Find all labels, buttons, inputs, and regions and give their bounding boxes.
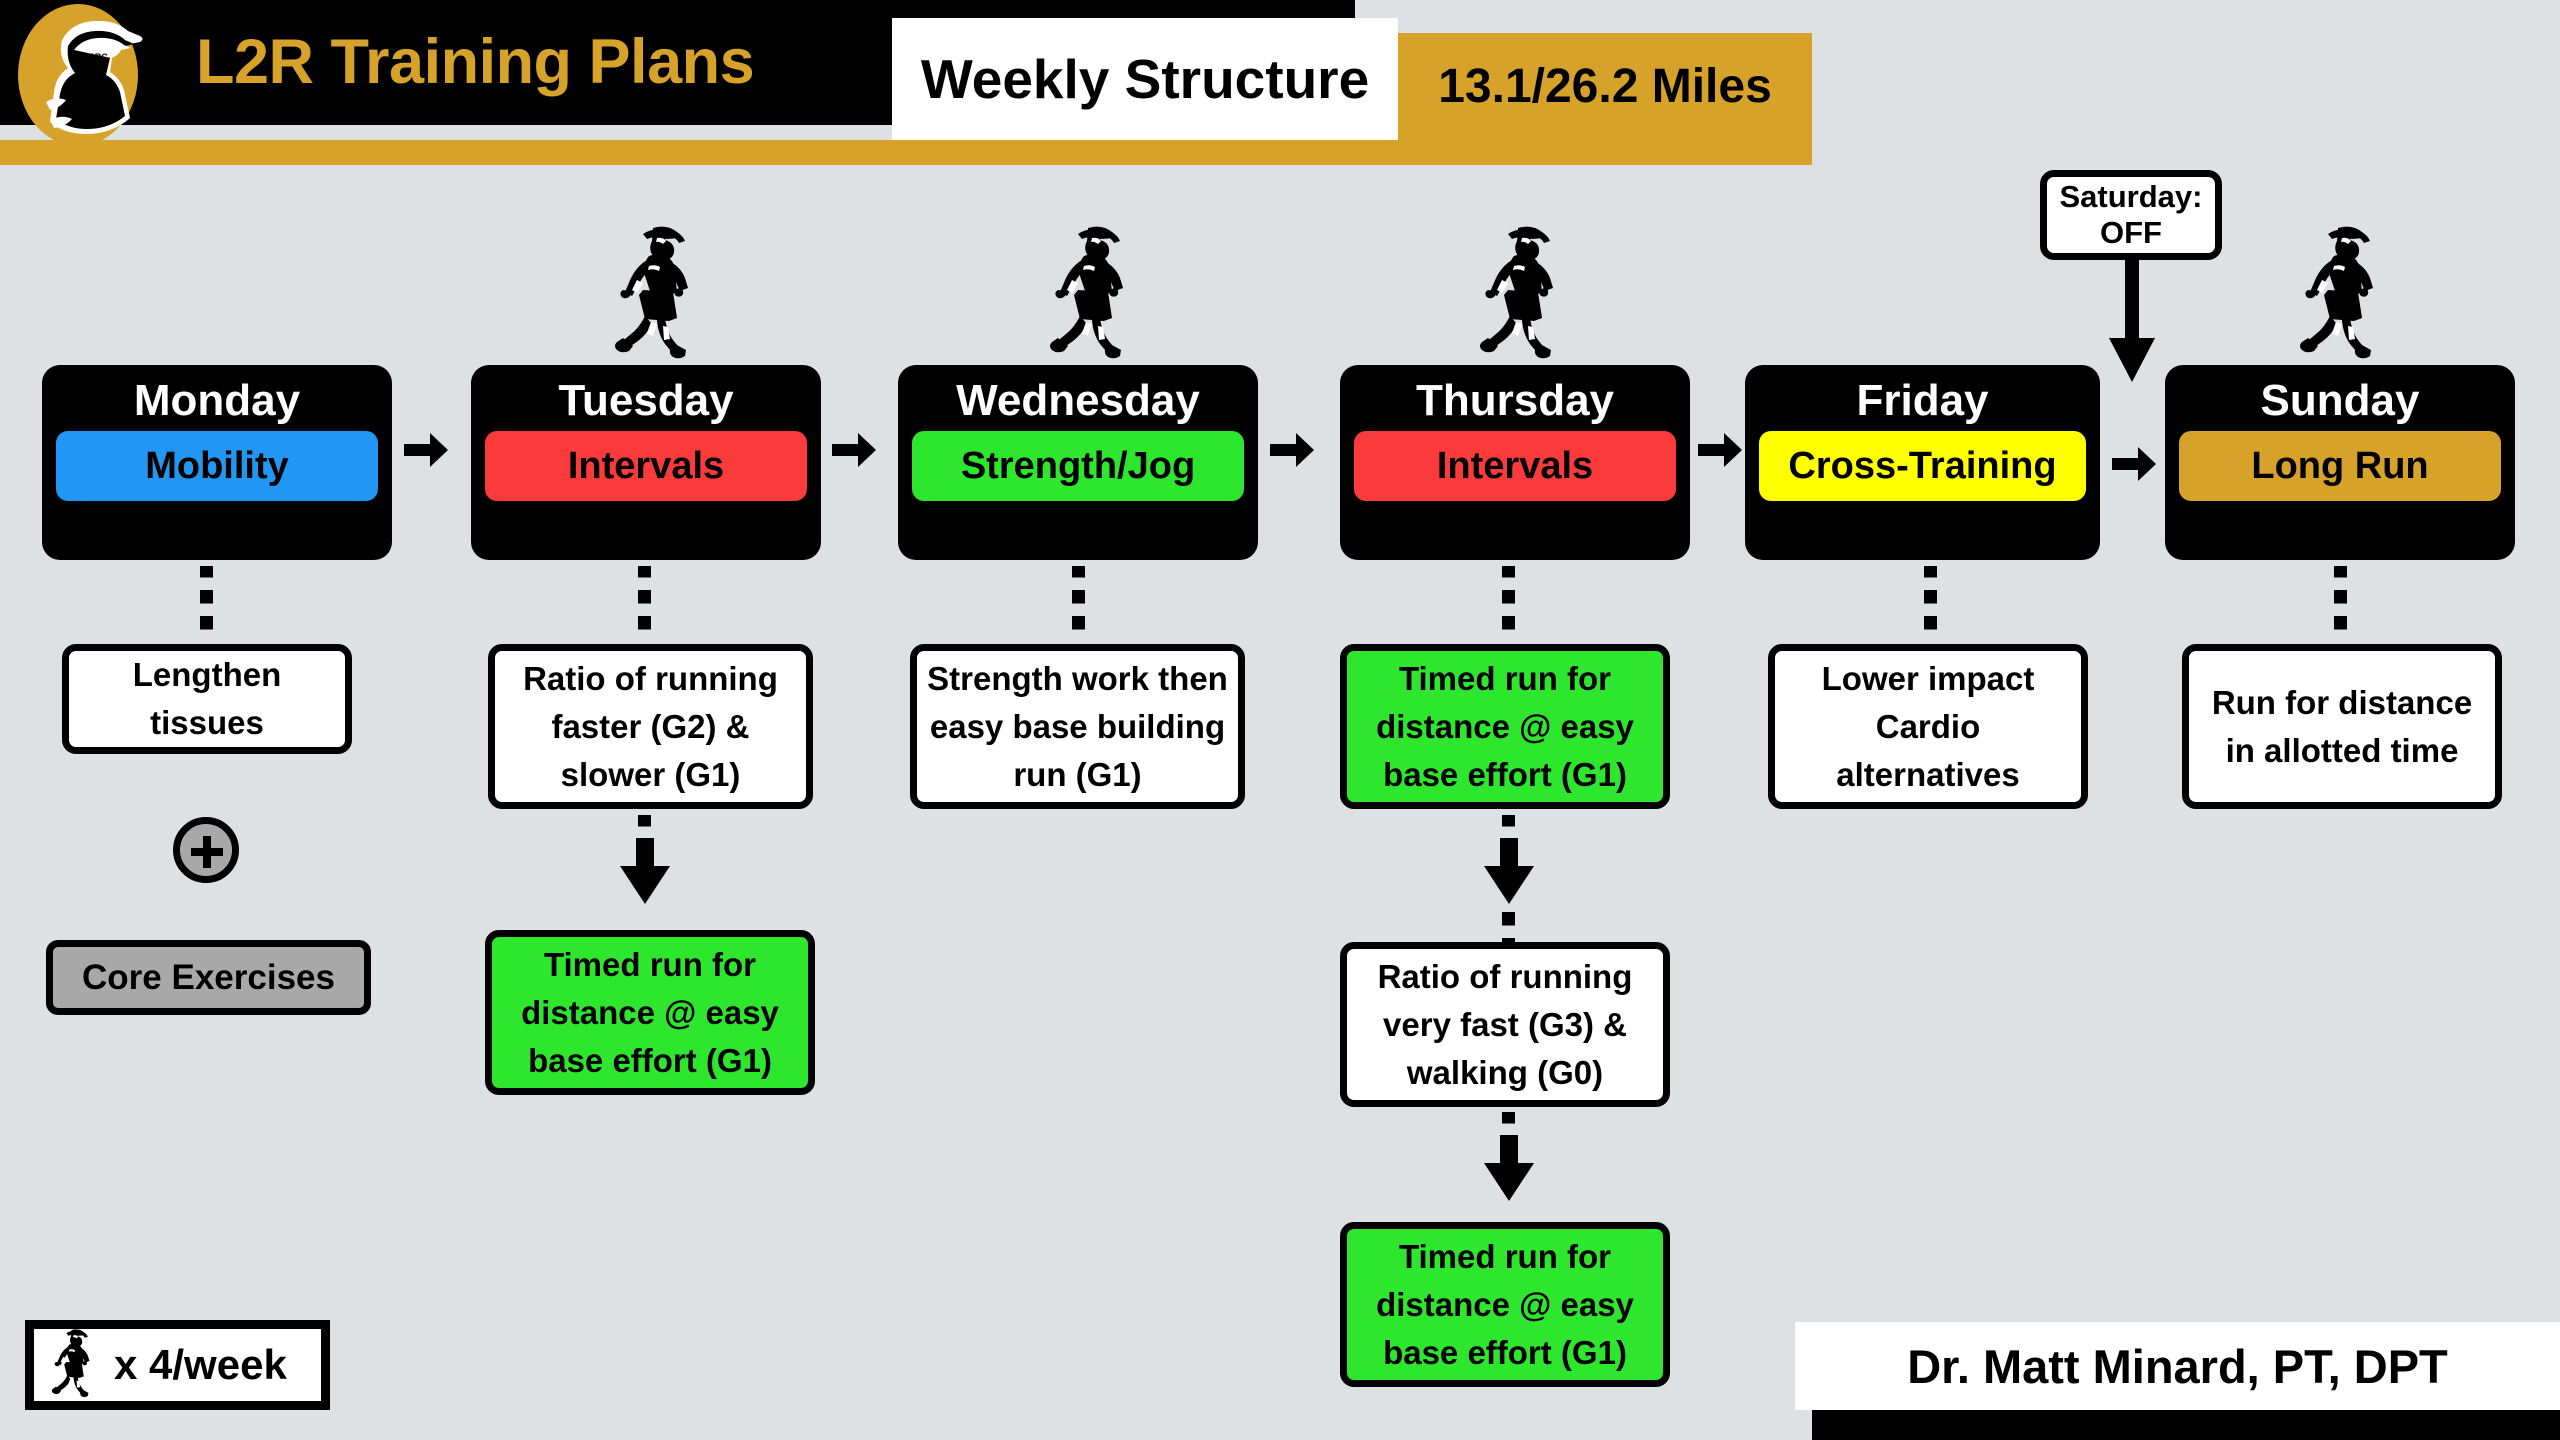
author-name: Dr. Matt Minard, PT, DPT — [1907, 1339, 2448, 1394]
day-name-friday: Friday — [1759, 373, 2086, 429]
dotted-connector-sunday — [2334, 566, 2347, 640]
arrow-down-thursday-1 — [1482, 838, 1536, 904]
day-type-thursday: Intervals — [1354, 431, 1676, 501]
dotted-connector-thursday-3 — [1502, 905, 1515, 945]
note-wednesday-strength: Strength work then easy base building ru… — [910, 644, 1245, 809]
dotted-connector-friday — [1924, 566, 1937, 640]
header-band: L2R Training Plans L2RC Weekly Structure… — [0, 0, 1812, 160]
day-name-tuesday: Tuesday — [485, 373, 807, 429]
day-card-tuesday[interactable]: Tuesday Intervals — [471, 365, 821, 560]
day-name-sunday: Sunday — [2179, 373, 2501, 429]
saturday-status: OFF — [2100, 215, 2162, 251]
day-card-wednesday[interactable]: Wednesday Strength/Jog — [898, 365, 1258, 560]
distance-badge: 13.1/26.2 Miles — [1398, 33, 1812, 140]
l2rc-logo-icon: L2RC — [10, 2, 146, 148]
dotted-connector-wednesday — [1072, 566, 1085, 640]
plus-icon — [173, 817, 239, 883]
note-thursday-ratio: Ratio of running very fast (G3) & walkin… — [1340, 942, 1670, 1107]
frequency-label: x 4/week — [114, 1341, 287, 1389]
note-tuesday-ratio: Ratio of running faster (G2) & slower (G… — [488, 644, 813, 809]
header-subtitle: Weekly Structure — [892, 18, 1398, 140]
author-signature: Dr. Matt Minard, PT, DPT — [1795, 1322, 2560, 1410]
arrow-friday-to-sunday — [2112, 441, 2156, 487]
arrow-monday-to-tuesday — [404, 427, 448, 473]
note-friday-cardio: Lower impact Cardio alternatives — [1768, 644, 2088, 809]
runner-icon-wednesday — [1048, 222, 1138, 362]
dotted-connector-thursday-4 — [1502, 1112, 1515, 1134]
arrow-tuesday-to-wednesday — [832, 427, 876, 473]
day-card-thursday[interactable]: Thursday Intervals — [1340, 365, 1690, 560]
day-card-friday[interactable]: Friday Cross-Training — [1745, 365, 2100, 560]
saturday-label: Saturday: — [2060, 179, 2203, 215]
note-thursday-timed-run-2: Timed run for distance @ easy base effor… — [1340, 1222, 1670, 1387]
dotted-connector-tuesday-2 — [638, 815, 651, 837]
runner-icon-legend — [48, 1327, 100, 1404]
note-sunday-long-run: Run for distance in allotted time — [2182, 644, 2502, 809]
note-tuesday-timed-run: Timed run for distance @ easy base effor… — [485, 930, 815, 1095]
day-type-tuesday: Intervals — [485, 431, 807, 501]
arrow-down-thursday-2 — [1482, 1135, 1536, 1201]
day-name-wednesday: Wednesday — [912, 373, 1244, 429]
runner-icon-sunday — [2298, 222, 2388, 362]
day-type-friday: Cross-Training — [1759, 431, 2086, 501]
day-type-wednesday: Strength/Jog — [912, 431, 1244, 501]
header-subtitle-text: Weekly Structure — [921, 47, 1369, 111]
day-name-thursday: Thursday — [1354, 373, 1676, 429]
day-card-sunday[interactable]: Sunday Long Run — [2165, 365, 2515, 560]
day-type-sunday: Long Run — [2179, 431, 2501, 501]
saturday-off-callout: Saturday: OFF — [2040, 170, 2222, 260]
arrow-thursday-to-friday — [1698, 427, 1742, 473]
dotted-connector-thursday-1 — [1502, 566, 1515, 640]
note-monday-lengthen: Lengthen tissues — [62, 644, 352, 754]
plus-bar-vertical — [203, 836, 211, 868]
runner-icon-tuesday — [613, 222, 703, 362]
runner-icon-thursday — [1478, 222, 1568, 362]
day-name-monday: Monday — [56, 373, 378, 429]
frequency-legend: x 4/week — [25, 1320, 330, 1410]
arrow-wednesday-to-thursday — [1270, 427, 1314, 473]
note-monday-core: Core Exercises — [46, 940, 371, 1015]
signature-shadow-bar — [1812, 1406, 2560, 1440]
distance-badge-text: 13.1/26.2 Miles — [1438, 59, 1772, 114]
day-card-monday[interactable]: Monday Mobility — [42, 365, 392, 560]
note-thursday-timed-run-1: Timed run for distance @ easy base effor… — [1340, 644, 1670, 809]
arrow-down-tuesday — [618, 838, 672, 904]
header-gold-underline — [0, 140, 1812, 165]
dotted-connector-thursday-2 — [1502, 815, 1515, 837]
svg-text:L2RC: L2RC — [84, 52, 108, 62]
dotted-connector-monday — [200, 566, 213, 640]
saturday-arrow-down-icon — [2105, 258, 2159, 382]
dotted-connector-tuesday-1 — [638, 566, 651, 640]
day-type-monday: Mobility — [56, 431, 378, 501]
